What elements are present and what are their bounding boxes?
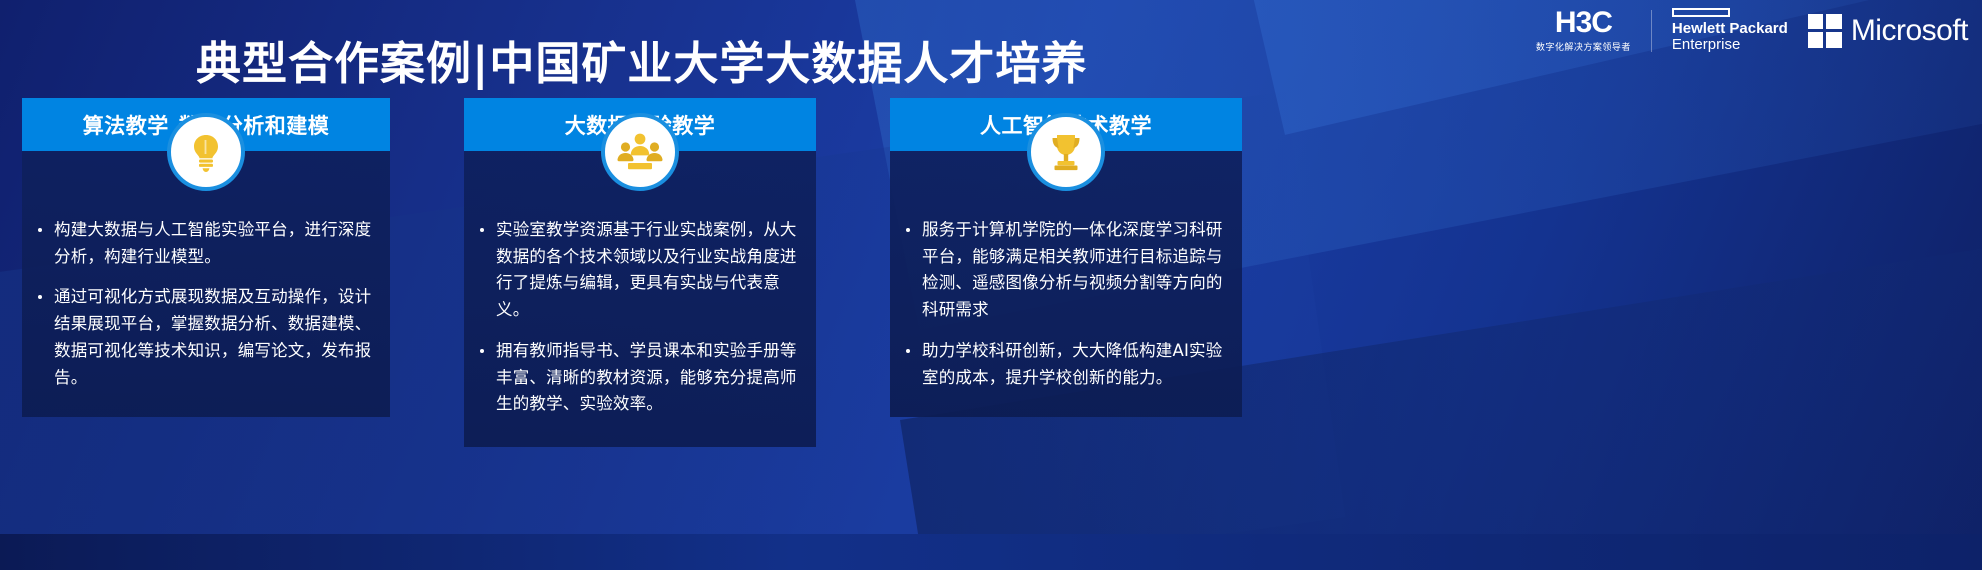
list-item: 拥有教师指导书、学员课本和实验手册等丰富、清晰的教材资源，能够充分提高师生的教学…: [478, 338, 798, 418]
logo-divider: [1651, 10, 1652, 52]
card-2-body: 实验室教学资源基于行业实战案例，从大数据的各个技术领域以及行业实战角度进行了提炼…: [464, 151, 816, 447]
card-group: 算法教学 数据分析和建模 构建大数据与人工智能实验平台，进行深度分析，构建行业模…: [22, 98, 1960, 447]
hpe-bar-icon: [1672, 8, 1730, 17]
microsoft-logo: Microsoft: [1808, 14, 1968, 48]
slide-root: H3C 数字化解决方案领导者 Hewlett Packard Enterpris…: [0, 0, 1982, 570]
bottom-accent-strip: [0, 534, 1982, 570]
logo-bar: H3C 数字化解决方案领导者 Hewlett Packard Enterpris…: [1536, 8, 1968, 53]
h3c-wordmark: H3C: [1555, 8, 1612, 38]
trophy-icon: [1027, 113, 1105, 191]
team-icon: [601, 113, 679, 191]
list-item: 服务于计算机学院的一体化深度学习科研平台，能够满足相关教师进行目标追踪与检测、遥…: [904, 217, 1224, 324]
card-algorithm-teaching: 算法教学 数据分析和建模 构建大数据与人工智能实验平台，进行深度分析，构建行业模…: [22, 98, 390, 447]
card-1-header-main: 算法教学: [83, 110, 169, 140]
page-title: 典型合作案例|中国矿业大学大数据人才培养: [196, 27, 1087, 92]
list-item: 助力学校科研创新，大大降低构建AI实验室的成本，提升学校创新的能力。: [904, 338, 1224, 391]
card-ai-technology-teaching: 人工智能技术教学 服务于计算机学院的一体化深度学习科研平台，能够满足相关教师进行…: [890, 98, 1242, 447]
card-bigdata-lab-teaching: 大数据实验教学 实验室教学资源基于行业实战案例，从大数据的各个技术领域以: [464, 98, 816, 447]
h3c-tagline: 数字化解决方案领导者: [1536, 40, 1631, 53]
hpe-logo: Hewlett Packard Enterprise: [1672, 8, 1788, 53]
h3c-logo: H3C 数字化解决方案领导者: [1536, 8, 1631, 53]
card-1-body: 构建大数据与人工智能实验平台，进行深度分析，构建行业模型。 通过可视化方式展现数…: [22, 151, 390, 417]
microsoft-squares-icon: [1808, 14, 1842, 48]
list-item: 实验室教学资源基于行业实战案例，从大数据的各个技术领域以及行业实战角度进行了提炼…: [478, 217, 798, 324]
hpe-line-2: Enterprise: [1672, 37, 1788, 53]
card-2-bullet-list: 实验室教学资源基于行业实战案例，从大数据的各个技术领域以及行业实战角度进行了提炼…: [478, 217, 798, 418]
list-item: 通过可视化方式展现数据及互动操作，设计结果展现平台，掌握数据分析、数据建模、数据…: [36, 284, 372, 391]
card-1-bullet-list: 构建大数据与人工智能实验平台，进行深度分析，构建行业模型。 通过可视化方式展现数…: [36, 217, 372, 391]
card-3-body: 服务于计算机学院的一体化深度学习科研平台，能够满足相关教师进行目标追踪与检测、遥…: [890, 151, 1242, 417]
list-item: 构建大数据与人工智能实验平台，进行深度分析，构建行业模型。: [36, 217, 372, 270]
card-3-bullet-list: 服务于计算机学院的一体化深度学习科研平台，能够满足相关教师进行目标追踪与检测、遥…: [904, 217, 1224, 391]
hpe-line-1: Hewlett Packard: [1672, 21, 1788, 37]
lightbulb-icon: [167, 113, 245, 191]
microsoft-wordmark: Microsoft: [1851, 14, 1968, 48]
